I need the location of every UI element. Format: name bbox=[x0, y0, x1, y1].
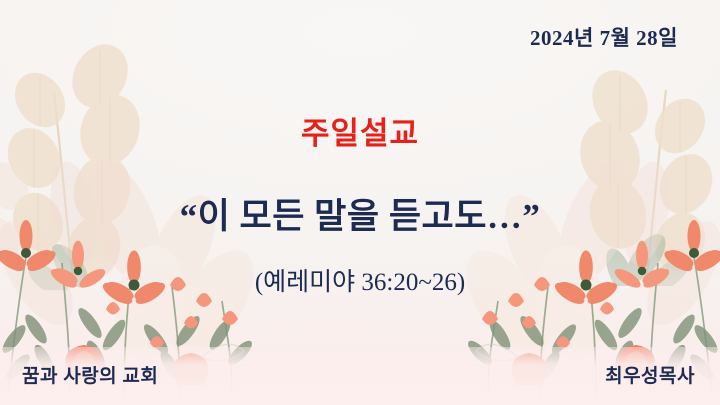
scripture-reference: (예레미야 36:20~26) bbox=[0, 262, 720, 298]
service-date: 2024년 7월 28일 bbox=[530, 22, 678, 52]
church-name: 꿈과 사랑의 교회 bbox=[22, 361, 158, 388]
speaker-name: 최우성목사 bbox=[605, 361, 695, 388]
sermon-slide: 2024년 7월 28일 주일설교 “이 모든 말을 듣고도…” (예레미야 3… bbox=[0, 0, 720, 405]
sermon-category-label: 주일설교 bbox=[0, 108, 720, 153]
sermon-title: “이 모든 말을 듣고도…” bbox=[0, 188, 720, 239]
